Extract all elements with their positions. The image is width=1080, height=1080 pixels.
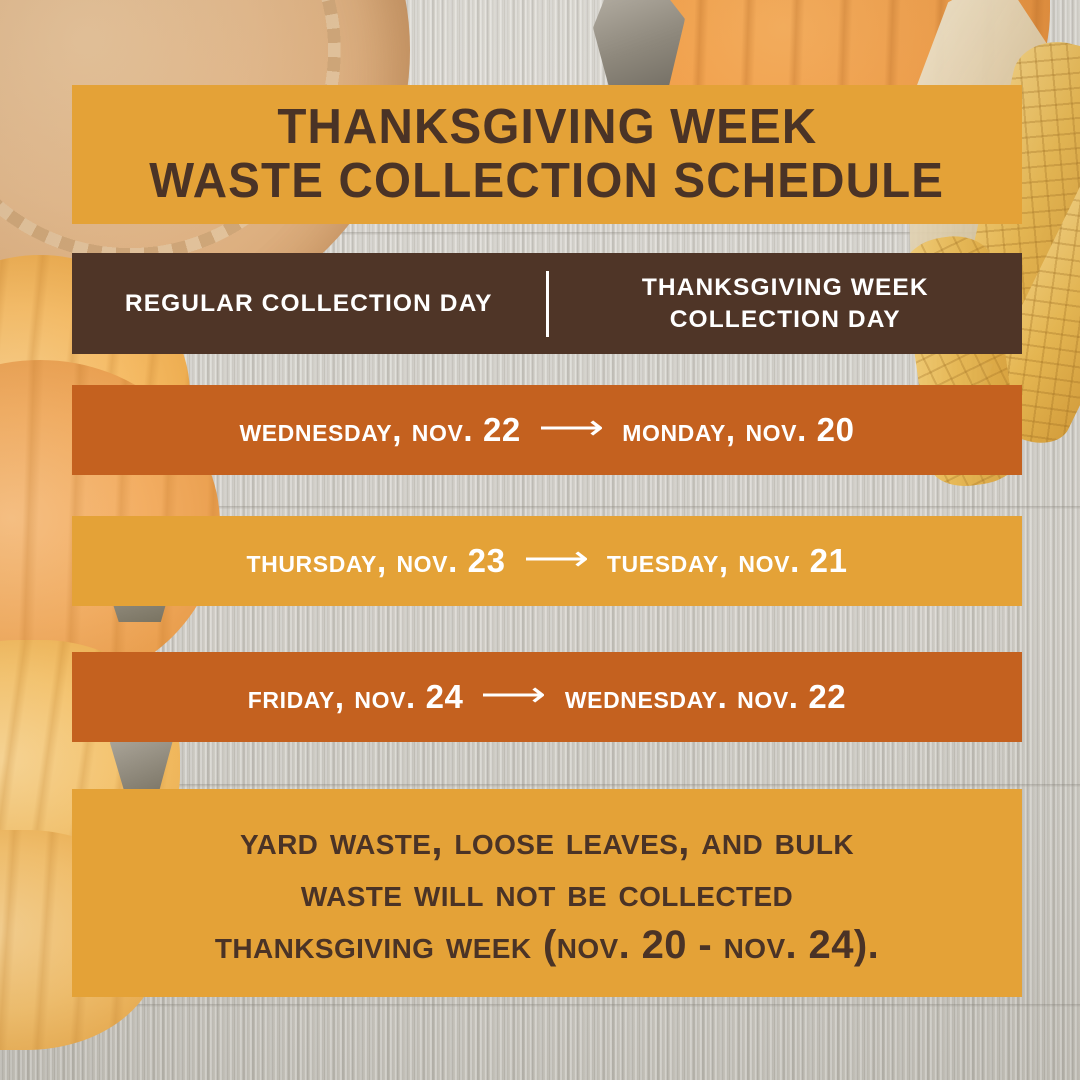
- thanksgiving-day-value: TUESDAY, NOV. 21: [607, 542, 848, 580]
- table-row: FRIDAY, NOV. 24 ⟶ WEDNESDAY. NOV. 22: [72, 652, 1022, 742]
- table-row: WEDNESDAY, NOV. 22 ⟶ MONDAY, NOV. 20: [72, 385, 1022, 475]
- regular-day-value: WEDNESDAY, NOV. 22: [239, 411, 520, 449]
- page-title-line-2: WASTE COLLECTION SCHEDULE: [150, 155, 945, 209]
- poster-title-block: THANKSGIVING WEEK WASTE COLLECTION SCHED…: [72, 85, 1022, 224]
- regular-day-value: FRIDAY, NOV. 24: [248, 678, 464, 716]
- schedule-row-content: THURSDAY, NOV. 23 ⟶ TUESDAY, NOV. 21: [246, 542, 847, 580]
- footer-note-line-3: THANKSGIVING WEEK (NOV. 20 - NOV. 24).: [215, 919, 879, 971]
- poster-canvas: THANKSGIVING WEEK WASTE COLLECTION SCHED…: [0, 0, 1080, 1080]
- column-header-thanksgiving-day: THANKSGIVING WEEK COLLECTION DAY: [549, 253, 1023, 354]
- column-header-regular-day: REGULAR COLLECTION DAY: [72, 253, 546, 354]
- footer-note-block: YARD WASTE, LOOSE LEAVES, AND BULK WASTE…: [72, 789, 1022, 997]
- arrow-right-icon: ⟶: [481, 678, 548, 712]
- schedule-row-content: WEDNESDAY, NOV. 22 ⟶ MONDAY, NOV. 20: [239, 411, 854, 449]
- schedule-row-content: FRIDAY, NOV. 24 ⟶ WEDNESDAY. NOV. 22: [248, 678, 847, 716]
- footer-note-line-2: WASTE WILL NOT BE COLLECTED: [301, 867, 793, 919]
- arrow-right-icon: ⟶: [523, 542, 590, 576]
- page-title-line-1: THANKSGIVING WEEK: [277, 101, 817, 155]
- thanksgiving-day-value: MONDAY, NOV. 20: [622, 411, 854, 449]
- regular-day-value: THURSDAY, NOV. 23: [246, 542, 505, 580]
- footer-note-line-1: YARD WASTE, LOOSE LEAVES, AND BULK: [240, 815, 854, 867]
- arrow-right-icon: ⟶: [538, 411, 605, 445]
- content-bands: THANKSGIVING WEEK WASTE COLLECTION SCHED…: [0, 0, 1080, 1080]
- column-header-thanksgiving-line-1: THANKSGIVING WEEK: [642, 272, 929, 303]
- thanksgiving-day-value: WEDNESDAY. NOV. 22: [565, 678, 846, 716]
- table-row: THURSDAY, NOV. 23 ⟶ TUESDAY, NOV. 21: [72, 516, 1022, 606]
- column-header-thanksgiving-line-2: COLLECTION DAY: [642, 304, 929, 335]
- table-header-row: REGULAR COLLECTION DAY THANKSGIVING WEEK…: [72, 253, 1022, 354]
